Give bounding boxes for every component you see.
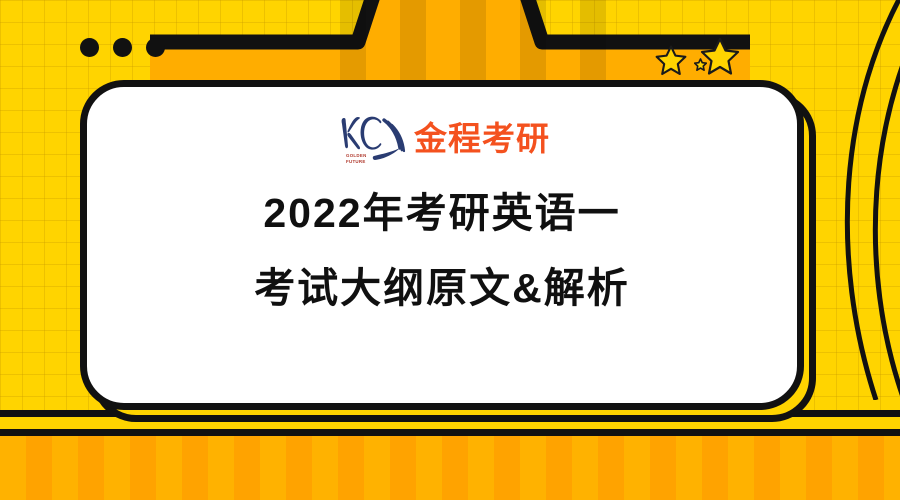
content-card: GOLDEN FUTURE 金程考研 2022年考研英语一 考试大纲原文&解析 bbox=[80, 80, 804, 410]
headline-block: 2022年考研英语一 考试大纲原文&解析 bbox=[254, 193, 630, 309]
svg-text:FUTURE: FUTURE bbox=[346, 159, 366, 164]
dot-2 bbox=[113, 38, 132, 57]
bottom-rule-lower bbox=[0, 429, 900, 436]
star-top-right-tiny bbox=[694, 58, 707, 76]
bottom-striped-band bbox=[0, 436, 900, 500]
kc-wing-logo-icon: GOLDEN FUTURE bbox=[334, 110, 410, 166]
brand-wordmark: 金程考研 bbox=[414, 122, 550, 155]
brand-logo: GOLDEN FUTURE 金程考研 bbox=[334, 109, 550, 167]
svg-text:GOLDEN: GOLDEN bbox=[346, 153, 367, 158]
star-top-right-small bbox=[655, 44, 687, 81]
headline-line-2: 考试大纲原文&解析 bbox=[254, 268, 630, 309]
dot-1 bbox=[80, 38, 99, 57]
dot-cluster bbox=[80, 38, 165, 57]
poster-canvas: GOLDEN FUTURE 金程考研 2022年考研英语一 考试大纲原文&解析 bbox=[0, 0, 900, 500]
dot-3 bbox=[146, 38, 165, 57]
headline-line-1: 2022年考研英语一 bbox=[254, 193, 630, 234]
